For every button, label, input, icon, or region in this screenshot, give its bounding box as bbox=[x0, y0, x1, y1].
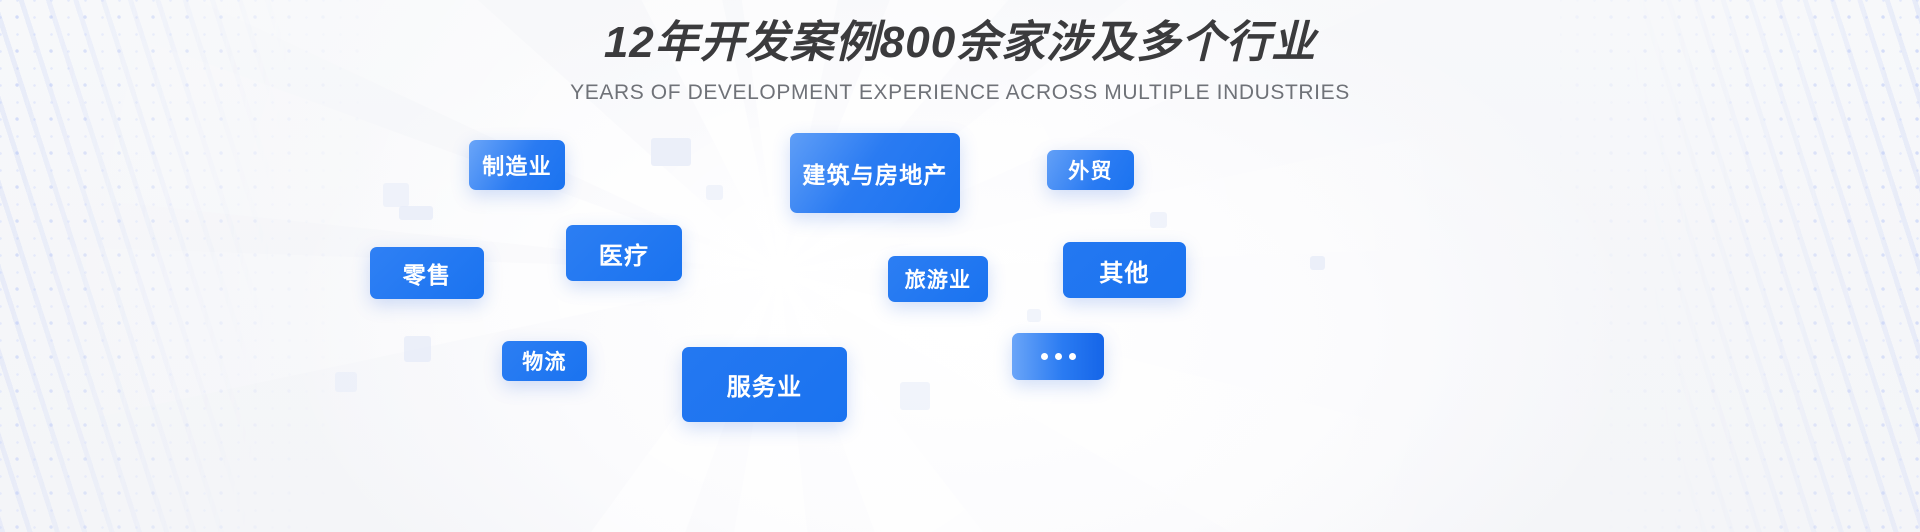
decor-square bbox=[1150, 212, 1167, 228]
decor-square bbox=[383, 183, 409, 207]
decor-square bbox=[399, 206, 433, 220]
decor-square bbox=[1027, 309, 1041, 322]
industry-tag-foreign-trade[interactable]: 外贸 bbox=[1047, 150, 1134, 190]
industry-tag-label: 服务业 bbox=[727, 367, 803, 402]
decor-square bbox=[1310, 256, 1325, 270]
page-title: 12年开发案例800余家涉及多个行业 bbox=[0, 14, 1920, 72]
industry-banner: 12年开发案例800余家涉及多个行业 YEARS OF DEVELOPMENT … bbox=[0, 0, 1920, 532]
industry-tag-label: 外贸 bbox=[1068, 155, 1112, 185]
industry-tag-label: 物流 bbox=[522, 346, 566, 376]
industry-tag-label: 零售 bbox=[403, 256, 451, 290]
industry-tag-ellipsis[interactable]: … bbox=[1012, 333, 1104, 380]
ellipsis-icon bbox=[1041, 353, 1076, 360]
industry-tag-healthcare[interactable]: 医疗 bbox=[566, 225, 682, 281]
industry-tag-other[interactable]: 其他 bbox=[1063, 242, 1186, 298]
decor-square bbox=[706, 185, 723, 200]
industry-tag-logistics[interactable]: 物流 bbox=[502, 341, 587, 381]
industry-tag-label: 制造业 bbox=[482, 149, 552, 181]
industry-tag-label: 医疗 bbox=[599, 236, 649, 271]
industry-tag-construction[interactable]: 建筑与房地产 bbox=[790, 133, 960, 213]
decor-square bbox=[335, 372, 357, 392]
industry-tag-tourism[interactable]: 旅游业 bbox=[888, 256, 988, 302]
industry-tag-retail[interactable]: 零售 bbox=[370, 247, 484, 299]
industry-tag-label: 其他 bbox=[1099, 253, 1149, 288]
decor-square bbox=[404, 336, 431, 362]
decor-square bbox=[651, 138, 691, 166]
industry-tag-label: 旅游业 bbox=[905, 264, 972, 294]
industry-tag-manufacturing[interactable]: 制造业 bbox=[469, 140, 565, 190]
page-subtitle: YEARS OF DEVELOPMENT EXPERIENCE ACROSS M… bbox=[0, 80, 1920, 106]
industry-tag-label: 建筑与房地产 bbox=[802, 156, 947, 190]
industry-tag-service[interactable]: 服务业 bbox=[682, 347, 847, 422]
decor-square bbox=[900, 382, 930, 410]
